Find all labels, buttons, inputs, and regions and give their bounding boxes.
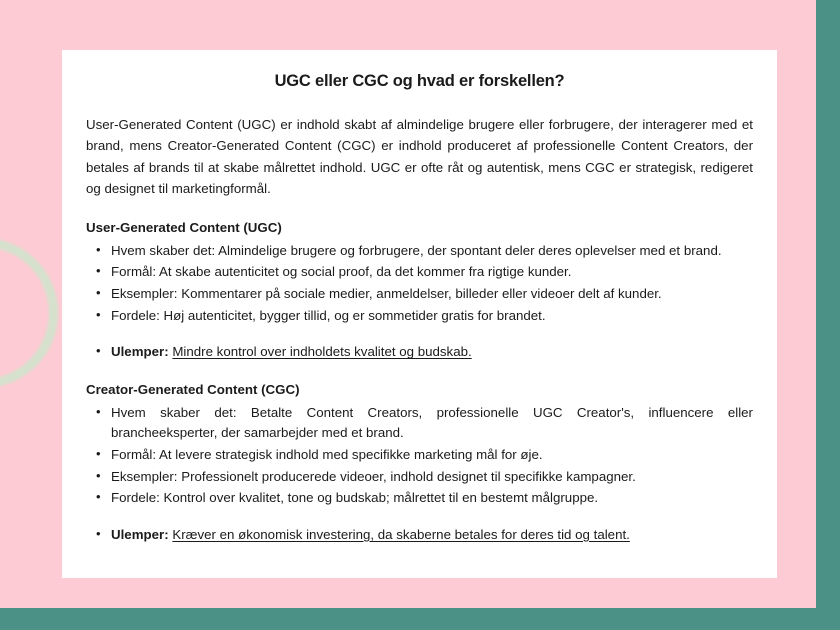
page-title: UGC eller CGC og hvad er forskellen? xyxy=(86,72,753,92)
section-cgc: Creator-Generated Content (CGC) Hvem ska… xyxy=(86,380,753,546)
list-item-drawback: Ulemper: Mindre kontrol over indholdets … xyxy=(86,342,753,363)
bullet-text: Fordele: Høj autenticitet, bygger tillid… xyxy=(111,308,546,323)
section-ugc: User-Generated Content (UGC) Hvem skaber… xyxy=(86,218,753,363)
bullet-text: Eksempler: Professionelt producerede vid… xyxy=(111,469,636,484)
list-item: Formål: At levere strategisk indhold med… xyxy=(86,445,753,466)
drawback-text: Mindre kontrol over indholdets kvalitet … xyxy=(172,344,471,359)
list-item-drawback: Ulemper: Kræver en økonomisk investering… xyxy=(86,525,753,546)
bullet-text: Formål: At skabe autenticitet og social … xyxy=(111,264,571,279)
drawback-label: Ulemper: xyxy=(111,527,169,542)
bullet-list-cgc: Hvem skaber det: Betalte Content Creator… xyxy=(86,403,753,546)
section-heading-cgc: Creator-Generated Content (CGC) xyxy=(86,380,753,400)
decorative-ring-shape xyxy=(0,238,58,388)
slide-canvas: UGC eller CGC og hvad er forskellen? Use… xyxy=(0,0,840,630)
bullet-text: Eksempler: Kommentarer på sociale medier… xyxy=(111,286,662,301)
list-item: Formål: At skabe autenticitet og social … xyxy=(86,262,753,283)
drawback-label: Ulemper: xyxy=(111,344,169,359)
section-divider-space xyxy=(86,364,753,380)
list-item: Eksempler: Professionelt producerede vid… xyxy=(86,467,753,488)
bullet-text: Hvem skaber det: Betalte Content Creator… xyxy=(111,405,753,441)
list-item: Hvem skaber det: Almindelige brugere og … xyxy=(86,241,753,262)
section-heading-ugc: User-Generated Content (UGC) xyxy=(86,218,753,238)
bullet-text: Hvem skaber det: Almindelige brugere og … xyxy=(111,243,722,258)
list-item: Hvem skaber det: Betalte Content Creator… xyxy=(86,403,753,444)
content-card: UGC eller CGC og hvad er forskellen? Use… xyxy=(62,50,777,578)
drawback-text: Kræver en økonomisk investering, da skab… xyxy=(172,527,630,542)
list-item: Fordele: Høj autenticitet, bygger tillid… xyxy=(86,306,753,327)
list-item: Fordele: Kontrol over kvalitet, tone og … xyxy=(86,488,753,509)
intro-paragraph: User-Generated Content (UGC) er indhold … xyxy=(86,114,753,200)
bullet-list-ugc: Hvem skaber det: Almindelige brugere og … xyxy=(86,241,753,363)
bullet-text: Formål: At levere strategisk indhold med… xyxy=(111,447,543,462)
bullet-text: Fordele: Kontrol over kvalitet, tone og … xyxy=(111,490,598,505)
list-item: Eksempler: Kommentarer på sociale medier… xyxy=(86,284,753,305)
